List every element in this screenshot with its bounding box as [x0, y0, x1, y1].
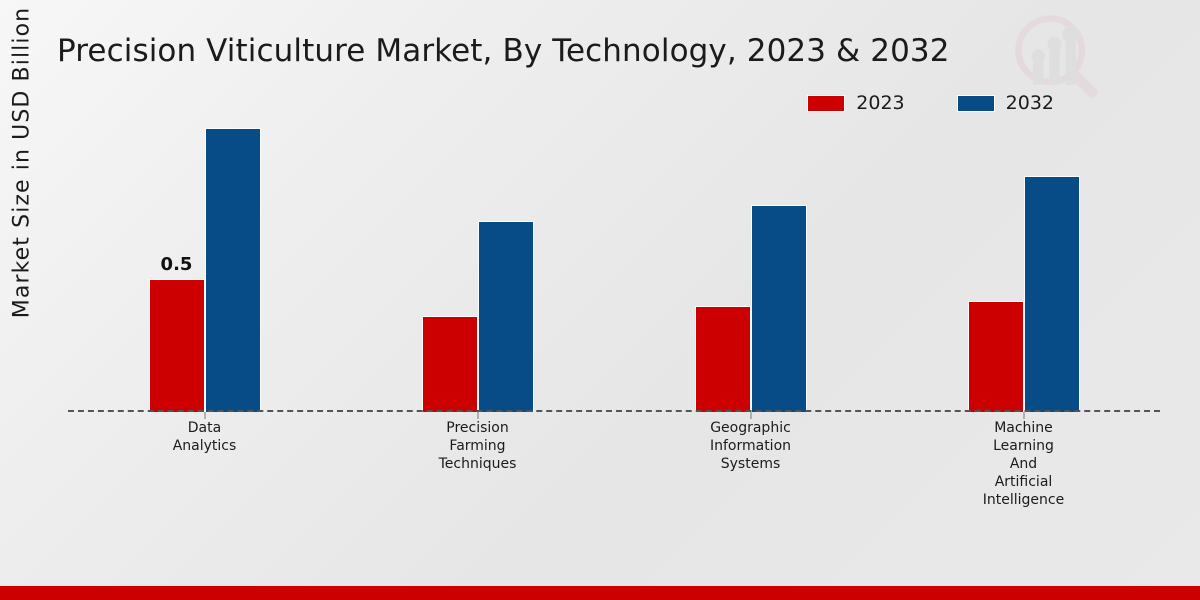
chart-title: Precision Viticulture Market, By Technol…: [57, 33, 950, 69]
x-axis-label-geographic-information-systems: GeographicInformationSystems: [614, 419, 887, 509]
bar-2023-data-analytics[interactable]: 0.5: [149, 279, 205, 412]
bar-value-label: 0.5: [161, 254, 193, 275]
bar-pair: 0.5: [68, 120, 341, 412]
bar-2032-machine-learning-and-artificial-intelligence[interactable]: [1024, 176, 1080, 412]
bottom-accent-bar: [0, 586, 1200, 600]
x-axis-label-line: Learning: [887, 437, 1160, 455]
x-axis-tick: [750, 412, 751, 419]
x-axis-tick: [204, 412, 205, 419]
x-axis-tick: [477, 412, 478, 419]
plot-area: 0.5: [68, 120, 1160, 412]
x-axis-labels: DataAnalytics PrecisionFarmingTechniques…: [68, 419, 1160, 509]
x-axis-label-data-analytics: DataAnalytics: [68, 419, 341, 509]
x-axis-baseline: [68, 410, 1160, 412]
bar-groups: 0.5: [68, 120, 1160, 412]
legend-item-2023[interactable]: 2023: [807, 92, 904, 114]
bar-2023-geographic-information-systems[interactable]: [695, 306, 751, 412]
magnifier-bar-chart-logo-icon: [1006, 8, 1102, 104]
x-axis-label-line: Analytics: [68, 437, 341, 455]
x-axis-label-line: Information: [614, 437, 887, 455]
legend-swatch-2032: [957, 95, 995, 112]
bar-2032-data-analytics[interactable]: [205, 128, 261, 412]
legend-label-2032: 2032: [1006, 92, 1054, 114]
y-axis-title: Market Size in USD Billion: [10, 0, 35, 333]
legend-swatch-2023: [807, 95, 845, 112]
bar-2032-precision-farming-techniques[interactable]: [478, 221, 534, 412]
x-axis-label-line: Data: [68, 419, 341, 437]
bar-group-data-analytics: 0.5: [68, 120, 341, 412]
bar-2023-machine-learning-and-artificial-intelligence[interactable]: [968, 301, 1024, 412]
chart-canvas: Precision Viticulture Market, By Technol…: [0, 0, 1200, 600]
chart-legend: 2023 2032: [807, 92, 1054, 114]
x-axis-label-line: Techniques: [341, 455, 614, 473]
x-axis-label-line: Systems: [614, 455, 887, 473]
legend-item-2032[interactable]: 2032: [957, 92, 1054, 114]
x-axis-label-line: Precision: [341, 419, 614, 437]
bar-group-machine-learning-and-artificial-intelligence: [887, 120, 1160, 412]
x-axis-label-machine-learning-and-artificial-intelligence: MachineLearningAndArtificialIntelligence: [887, 419, 1160, 509]
bar-pair: [341, 120, 614, 412]
x-axis-label-line: Farming: [341, 437, 614, 455]
x-axis-label-line: Intelligence: [887, 491, 1160, 509]
x-axis-label-line: Geographic: [614, 419, 887, 437]
bar-pair: [887, 120, 1160, 412]
x-axis-label-precision-farming-techniques: PrecisionFarmingTechniques: [341, 419, 614, 509]
bar-2023-precision-farming-techniques[interactable]: [422, 316, 478, 412]
bar-2032-geographic-information-systems[interactable]: [751, 205, 807, 412]
x-axis-label-line: And: [887, 455, 1160, 473]
legend-label-2023: 2023: [856, 92, 904, 114]
bar-group-precision-farming-techniques: [341, 120, 614, 412]
bar-pair: [614, 120, 887, 412]
bar-group-geographic-information-systems: [614, 120, 887, 412]
x-axis-label-line: Machine: [887, 419, 1160, 437]
x-axis-tick: [1023, 412, 1024, 419]
x-axis-label-line: Artificial: [887, 473, 1160, 491]
